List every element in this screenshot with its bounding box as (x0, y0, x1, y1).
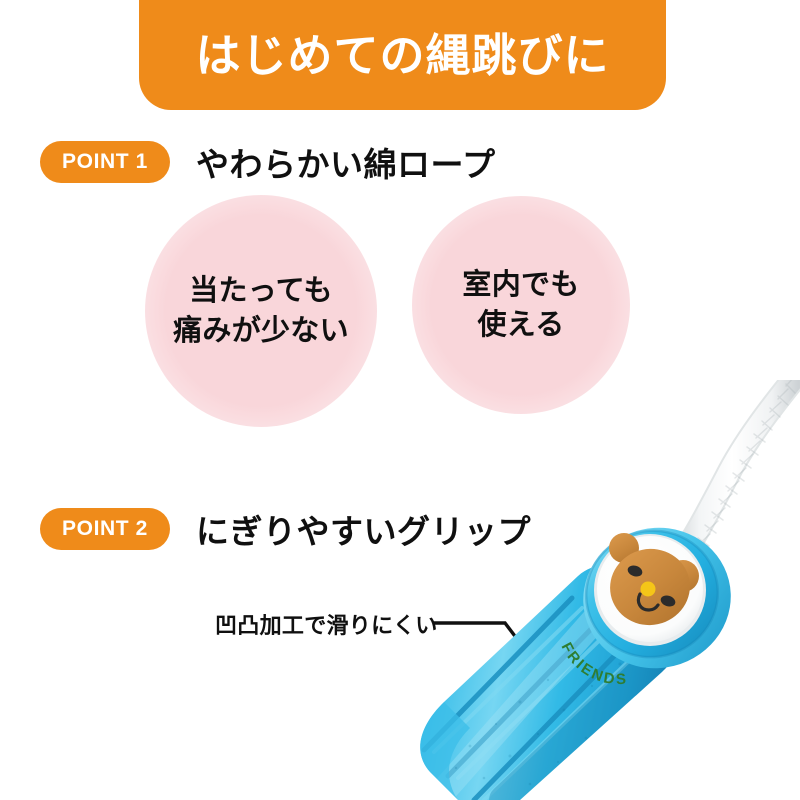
grip-barrel (402, 565, 677, 800)
benefit-circle-1: 当たっても 痛みが少ない (145, 195, 377, 427)
bear-icon (603, 533, 699, 632)
point-row-2: POINT 2 にぎりやすいグリップ (40, 505, 531, 553)
benefit-circle-2: 室内でも 使える (412, 196, 630, 414)
benefit-circle-2-line1: 室内でも (462, 265, 579, 305)
benefit-circle-1-line2: 痛みが少ない (173, 311, 349, 351)
callout-label: 凹凸加工で滑りにくい (215, 608, 438, 640)
point-heading-2: にぎりやすいグリップ (196, 505, 531, 553)
header-banner: はじめての縄跳びに (139, 0, 666, 110)
callout-leader-line (425, 608, 545, 668)
rope (678, 380, 798, 562)
benefit-circle-2-text: 室内でも 使える (462, 265, 579, 345)
benefit-circle-1-text: 当たっても 痛みが少ない (173, 271, 349, 351)
point-heading-1: やわらかい綿ロープ (196, 138, 496, 186)
product-photo-jump-rope-handle: FRIENDS (400, 380, 800, 800)
benefit-circle-2-line2: 使える (462, 305, 579, 345)
grip-cap: FRIENDS (558, 512, 746, 688)
brand-label: FRIENDS (558, 640, 629, 688)
point-row-1: POINT 1 やわらかい綿ロープ (40, 138, 496, 186)
page-title: はじめての縄跳びに (195, 27, 609, 78)
point-badge-2: POINT 2 (40, 508, 170, 550)
point-badge-1: POINT 1 (40, 141, 170, 183)
benefit-circle-1-line1: 当たっても (173, 271, 349, 311)
